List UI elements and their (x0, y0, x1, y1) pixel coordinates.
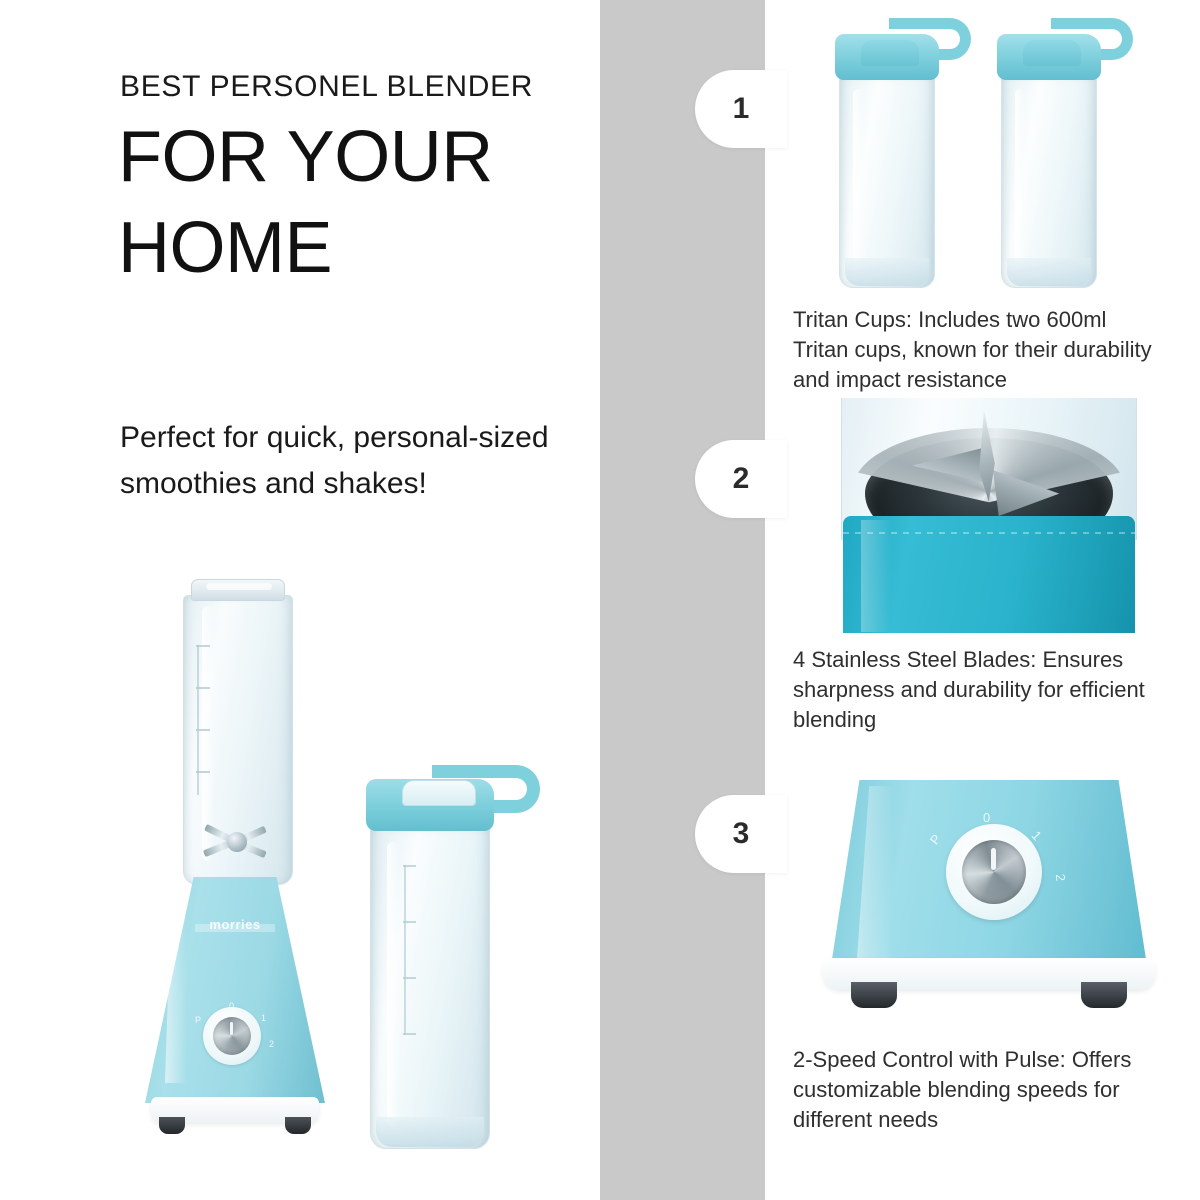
blender-illustration: morries P 0 1 2 (145, 565, 325, 1150)
feature-3-image: P 0 1 2 (813, 760, 1165, 1008)
control-knob-ring (203, 1007, 261, 1065)
travel-bottle-illustration (348, 765, 548, 1155)
feature-2-description: 4 Stainless Steel Blades: Ensures sharpn… (793, 645, 1163, 735)
feature-3-description: 2-Speed Control with Pulse: Offers custo… (793, 1045, 1163, 1135)
dial-label-2: 2 (269, 1039, 274, 1049)
cup-cap (835, 34, 939, 80)
cup-foot (1007, 258, 1091, 286)
jar-measurement-marks (197, 645, 199, 795)
dial-label-0: 0 (983, 810, 990, 825)
feature-badge-2: 2 (695, 440, 787, 518)
bottle-body (370, 827, 490, 1149)
bottle-spout (402, 780, 476, 806)
blade-hub (227, 832, 247, 852)
feature-2-image (813, 398, 1165, 633)
bottle-base (376, 1117, 484, 1147)
cup-spout (1023, 40, 1081, 66)
blade-assembly-icon (207, 823, 269, 863)
cup-cap (997, 34, 1101, 80)
right-panel: Tritan Cups: Includes two 600ml Tritan c… (765, 0, 1200, 1200)
dial-label-1: 1 (261, 1013, 266, 1023)
dial-label-p: P (195, 1015, 201, 1025)
control-foot-left (851, 982, 897, 1008)
infographic-page: BEST PERSONEL BLENDER FOR YOUR HOME Perf… (0, 0, 1200, 1200)
base-foot-left (159, 1117, 185, 1134)
subheading-text: Perfect for quick, personal-sized smooth… (120, 415, 550, 506)
control-knob (962, 840, 1026, 904)
feature-badge-1: 1 (695, 70, 787, 148)
page-title: FOR YOUR HOME (118, 112, 578, 293)
brand-logo: morries (193, 917, 277, 932)
control-foot-right (1081, 982, 1127, 1008)
base-highlight (165, 883, 187, 1083)
bottle-cap (366, 779, 494, 831)
feature-badge-3: 3 (695, 795, 787, 873)
cup-body (1001, 76, 1097, 288)
cup-spout (861, 40, 919, 66)
feature-1-image (825, 10, 1155, 295)
feature-1-description: Tritan Cups: Includes two 600ml Tritan c… (793, 305, 1163, 395)
eyebrow-text: BEST PERSONEL BLENDER (120, 70, 533, 104)
blade-base-highlight (861, 520, 891, 632)
dial-label-p: P (927, 831, 944, 847)
cup-body (839, 76, 935, 288)
tritan-cup-left (825, 10, 975, 295)
tritan-cup-right (987, 10, 1137, 295)
control-knob-ring (946, 824, 1042, 920)
control-knob (213, 1017, 251, 1055)
divider-strip (600, 0, 765, 1200)
base-foot-right (285, 1117, 311, 1134)
left-panel: BEST PERSONEL BLENDER FOR YOUR HOME Perf… (0, 0, 600, 1200)
dial-label-2: 2 (1053, 873, 1069, 882)
bottle-measurement-marks (404, 865, 406, 1035)
cup-foot (845, 258, 929, 286)
hero-product-image: morries P 0 1 2 (110, 565, 550, 1165)
blender-lid (191, 579, 285, 601)
